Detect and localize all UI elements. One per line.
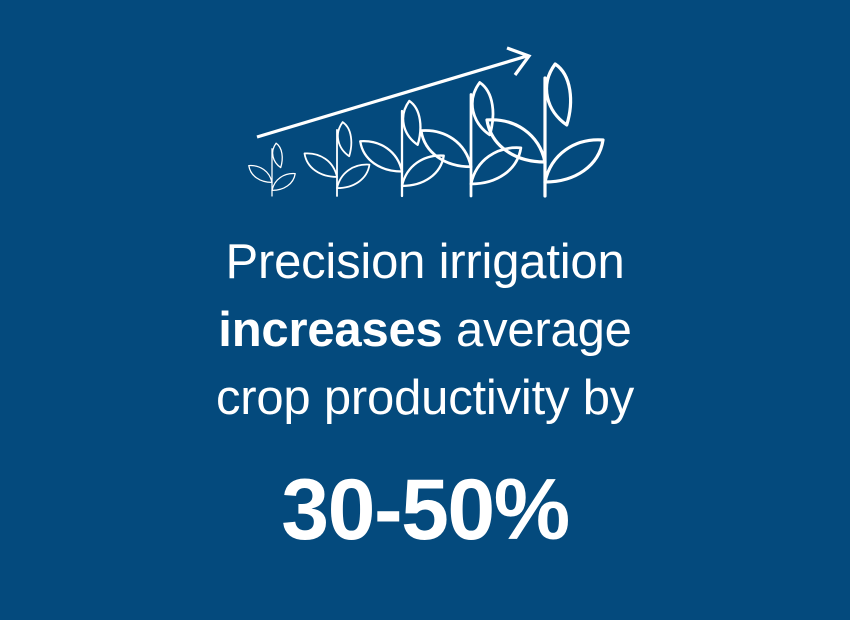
statement-line-3: crop productivity by bbox=[0, 364, 850, 432]
plant-left-leaf bbox=[487, 120, 545, 162]
plant-left-leaf bbox=[360, 141, 402, 171]
plant-5-largest bbox=[487, 63, 603, 196]
statement-line-1: Precision irrigation bbox=[0, 228, 850, 296]
plant-right-leaf bbox=[545, 140, 603, 182]
plant-left-leaf bbox=[249, 166, 272, 183]
statement-line-2-suffix: average bbox=[443, 303, 632, 357]
plant-2 bbox=[305, 122, 370, 196]
plant-1-smallest bbox=[249, 143, 295, 196]
plant-right-leaf bbox=[402, 156, 444, 186]
plant-left-leaf bbox=[305, 153, 337, 177]
statement-line-2: increases average bbox=[0, 296, 850, 364]
infographic-card: Precision irrigation increases average c… bbox=[0, 0, 850, 620]
stat-figure: 30-50% bbox=[0, 458, 850, 562]
statement-emphasis-increases: increases bbox=[218, 303, 442, 357]
plant-3 bbox=[360, 100, 444, 196]
plant-right-leaf bbox=[471, 148, 521, 184]
plant-right-leaf bbox=[272, 174, 295, 191]
growth-illustration bbox=[0, 0, 850, 230]
plant-4 bbox=[421, 82, 521, 196]
plant-right-leaf bbox=[337, 165, 369, 189]
plant-left-leaf bbox=[421, 130, 471, 166]
statement-block: Precision irrigation increases average c… bbox=[0, 228, 850, 562]
